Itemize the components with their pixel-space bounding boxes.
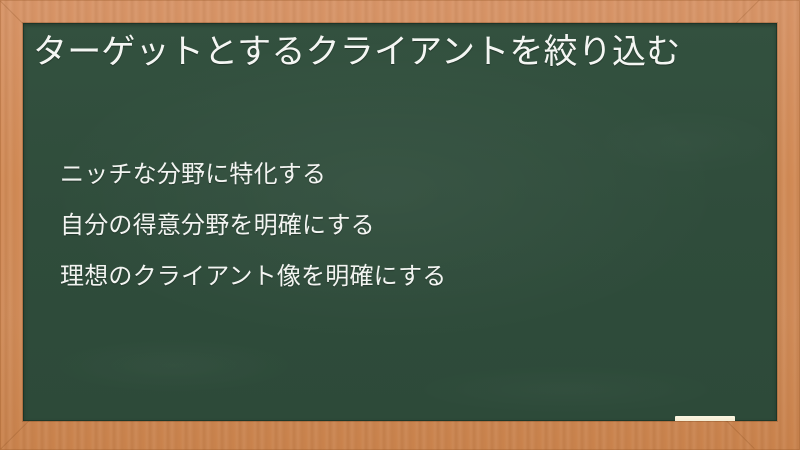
bullet-list: ニッチな分野に特化する 自分の得意分野を明確にする 理想のクライアント像を明確に… (60, 149, 757, 302)
slide-title: ターゲットとするクライアントを絞り込む (33, 29, 751, 76)
bullet-item-3: 理想のクライアント像を明確にする (60, 251, 757, 302)
chalk-stick-icon (675, 416, 735, 421)
slide-content: ターゲットとするクライアントを絞り込む ニッチな分野に特化する 自分の得意分野を… (23, 23, 777, 421)
bullet-item-2: 自分の得意分野を明確にする (60, 200, 757, 251)
blackboard-slide: ターゲットとするクライアントを絞り込む ニッチな分野に特化する 自分の得意分野を… (0, 0, 800, 450)
chalkboard-surface: ターゲットとするクライアントを絞り込む ニッチな分野に特化する 自分の得意分野を… (23, 23, 777, 421)
bullet-item-1: ニッチな分野に特化する (60, 149, 757, 200)
